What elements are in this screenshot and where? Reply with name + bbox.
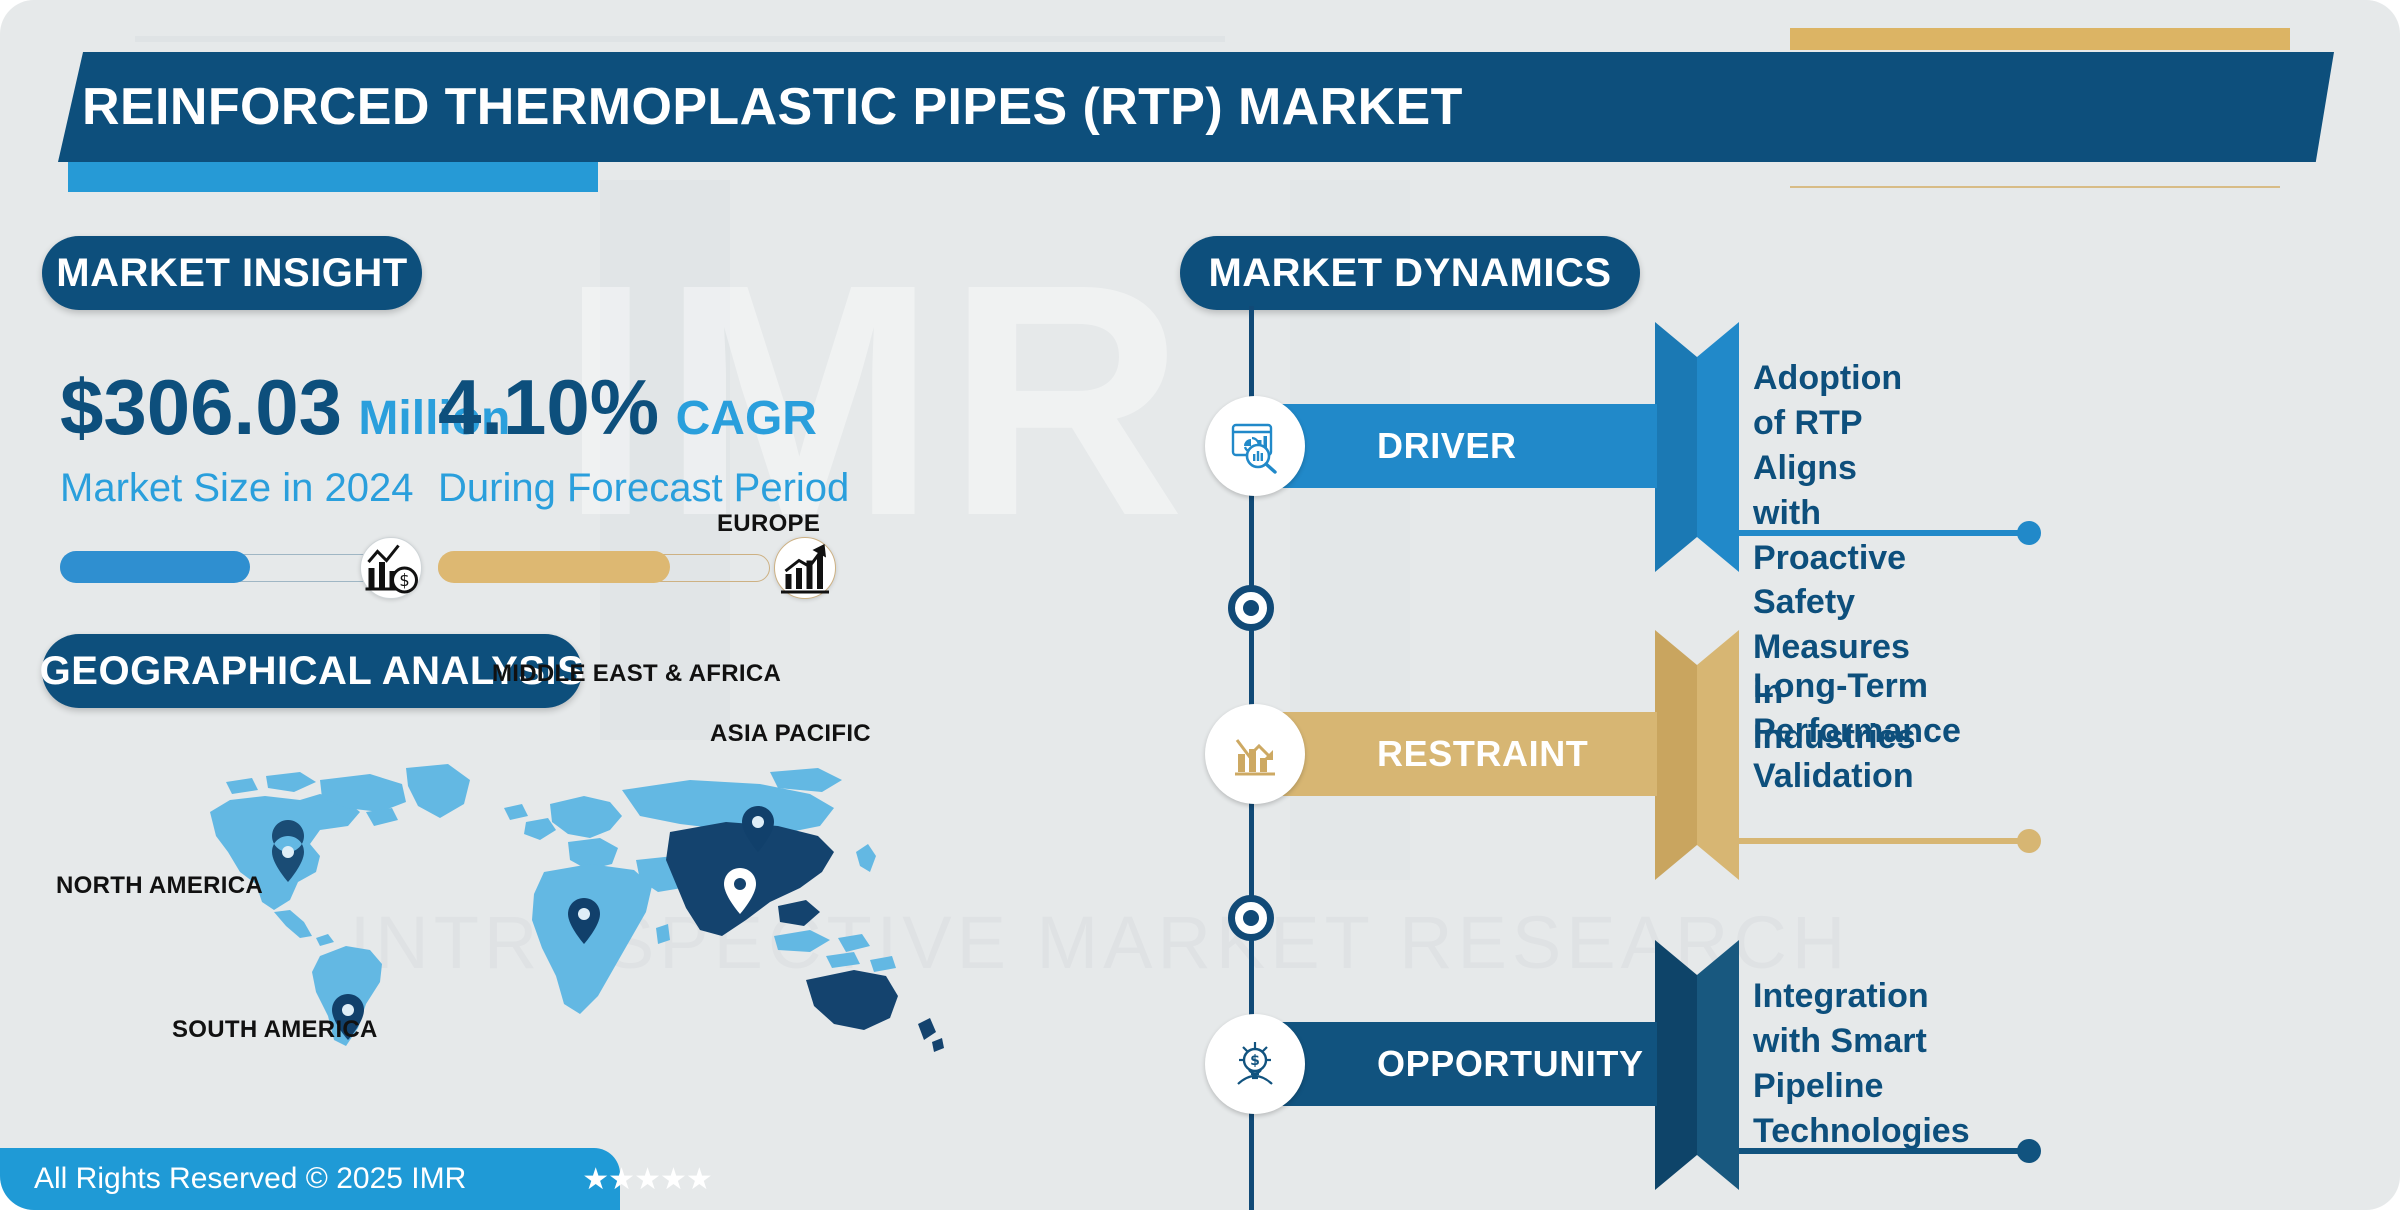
- header-ghost-line: [135, 36, 1225, 42]
- rating-stars: ★★★★★: [582, 1162, 711, 1197]
- world-map: EUROPE ASIA PACIFIC MIDDLE EAST & AFRICA: [170, 760, 1000, 1060]
- restraint-bar: RESTRAINT: [1257, 712, 1657, 796]
- chevron-opportunity: [1655, 940, 1739, 1190]
- cagr-value: 4.10%: [438, 368, 659, 446]
- opportunity-label: OPPORTUNITY: [1377, 1043, 1644, 1085]
- badge-market-insight: MARKET INSIGHT: [42, 236, 422, 310]
- header-gold-underline: [1790, 186, 2280, 188]
- page-title: REINFORCED THERMOPLASTIC PIPES (RTP) MAR…: [82, 52, 2282, 162]
- badge-market-dynamics: MARKET DYNAMICS: [1180, 236, 1640, 310]
- copyright-text: All Rights Reserved © 2025 IMR: [34, 1162, 466, 1196]
- declining-bar-chart-icon: [1205, 704, 1305, 804]
- header-gold-accent: [1790, 28, 2290, 50]
- restraint-label: RESTRAINT: [1377, 733, 1588, 775]
- bar-chart-dollar-icon: $: [360, 537, 422, 599]
- chevron-restraint: [1655, 630, 1739, 880]
- lightbulb-dollar-icon: $: [1205, 1014, 1305, 1114]
- header-blue-accent: [68, 162, 598, 192]
- driver-bar: DRIVER: [1257, 404, 1657, 488]
- opportunity-bar: OPPORTUNITY: [1257, 1022, 1657, 1106]
- progress-fill: [60, 551, 250, 583]
- timeline-node: [1228, 585, 1274, 631]
- map-label-south-america: SOUTH AMERICA: [172, 1016, 378, 1044]
- dashboard-magnifier-icon: [1205, 396, 1305, 496]
- cagr-unit: CAGR: [676, 391, 817, 446]
- map-label-middle-east-africa: MIDDLE EAST & AFRICA: [492, 660, 781, 688]
- growth-arrow-chart-icon: [774, 537, 836, 599]
- restraint-text: Long-Term Performance Validation: [1753, 664, 1961, 799]
- map-label-europe: EUROPE: [717, 510, 820, 538]
- footer: All Rights Reserved © 2025 IMR ★★★★★: [0, 1148, 620, 1210]
- infographic-canvas: IMR INTROSPECTIVE MARKET RESEARCH REINFO…: [0, 0, 2400, 1210]
- svg-text:$: $: [1250, 1053, 1260, 1069]
- cagr-caption: During Forecast Period: [438, 466, 849, 511]
- driver-label: DRIVER: [1377, 425, 1517, 467]
- stat-cagr: 4.10% CAGR During Forecast Period: [438, 368, 849, 595]
- progress-fill: [438, 551, 670, 583]
- market-size-value: $306.03: [60, 368, 342, 446]
- timeline-node: [1228, 895, 1274, 941]
- map-label-asia-pacific: ASIA PACIFIC: [710, 720, 871, 748]
- cagr-progress: [438, 537, 849, 595]
- chevron-driver: [1655, 322, 1739, 572]
- restraint-leader-line: [1739, 838, 2029, 844]
- map-label-north-america: NORTH AMERICA: [56, 872, 263, 900]
- svg-text:$: $: [399, 571, 410, 590]
- opportunity-text: Integration with Smart Pipeline Technolo…: [1753, 974, 1970, 1154]
